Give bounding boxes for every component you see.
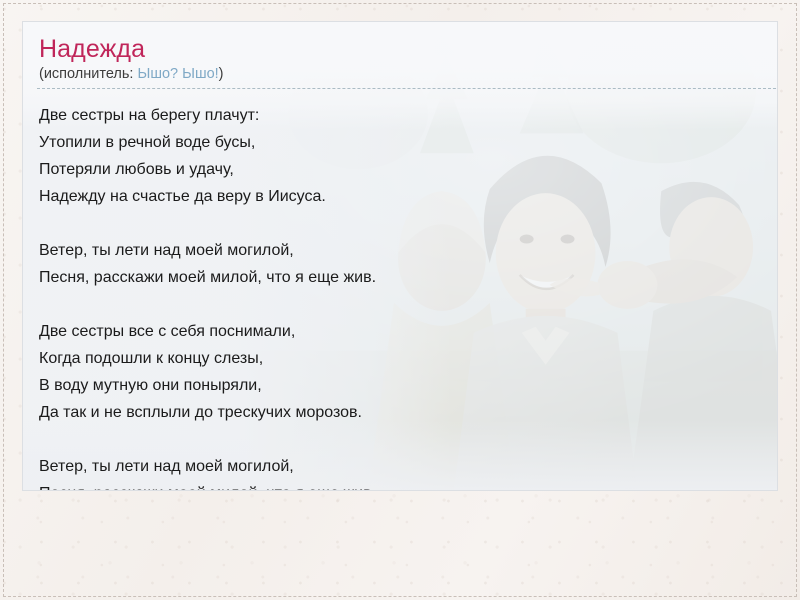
lyrics-stanza: Ветер, ты лети над моей могилой, Песня, …	[39, 453, 765, 491]
lyric-line: Утопили в речной воде бусы,	[39, 129, 765, 156]
lyric-line: Две сестры все с себя поснимали,	[39, 318, 765, 345]
lyrics-stanza: Ветер, ты лети над моей могилой, Песня, …	[39, 237, 765, 291]
lyric-line: Песня, расскажи моей милой, что я еще жи…	[39, 480, 765, 491]
lyrics-stanza: Две сестры все с себя поснимали, Когда п…	[39, 318, 765, 426]
lyric-line: В воду мутную они поныряли,	[39, 372, 765, 399]
artist-attribution: (исполнитель: Ышо? Ышо!)	[37, 64, 765, 87]
lyric-line: Песня, расскажи моей милой, что я еще жи…	[39, 264, 765, 291]
title-divider	[37, 88, 778, 89]
lyrics-stanza: Две сестры на берегу плачут: Утопили в р…	[39, 102, 765, 210]
artist-prefix-label: (исполнитель:	[39, 66, 137, 82]
lyric-line: Ветер, ты лети над моей могилой,	[39, 453, 765, 480]
lyrics-panel: Надежда (исполнитель: Ышо? Ышо!) Две сес…	[22, 21, 778, 491]
lyric-line: Потеряли любовь и удачу,	[39, 156, 765, 183]
lyrics-content: Надежда (исполнитель: Ышо? Ышо!) Две сес…	[37, 34, 765, 482]
lyrics-stanza-list: Две сестры на берегу плачут: Утопили в р…	[37, 102, 765, 491]
song-title: Надежда	[37, 34, 765, 64]
lyric-line: Когда подошли к концу слезы,	[39, 345, 765, 372]
lyric-line: Две сестры на берегу плачут:	[39, 102, 765, 129]
lyric-line: Надежду на счастье да веру в Иисуса.	[39, 183, 765, 210]
lyric-line: Ветер, ты лети над моей могилой,	[39, 237, 765, 264]
artist-link[interactable]: Ышо? Ышо!	[137, 66, 218, 82]
artist-suffix-label: )	[219, 66, 224, 82]
lyric-line: Да так и не всплыли до трескучих морозов…	[39, 399, 765, 426]
